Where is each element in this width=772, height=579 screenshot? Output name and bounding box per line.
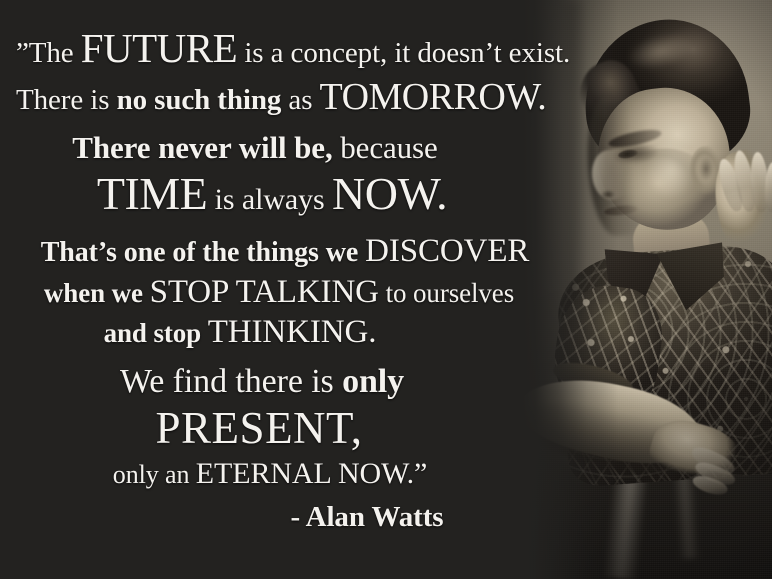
quote-run-regular: is always — [207, 183, 332, 216]
quote-line: only an ETERNAL NOW.” — [10, 459, 554, 489]
quote-line: TIME is always NOW. — [10, 171, 554, 217]
quote-run-regular: to ourselves — [379, 278, 514, 308]
quote-line: We find there is only — [10, 365, 554, 399]
quote-run-cap: FUTURE — [81, 25, 237, 71]
quote-line: and stop THINKING. — [10, 316, 554, 349]
quote-run-regular: ”The — [16, 37, 81, 69]
quote-run-bold: only — [342, 363, 404, 400]
quote-line: That’s one of the things we DISCOVER — [10, 235, 554, 268]
quote-run-regular: as — [281, 84, 319, 116]
quote-poster: ”The FUTURE is a concept, it doesn’t exi… — [0, 0, 772, 579]
quote-run-cap: THINKING. — [208, 314, 377, 350]
quote-run-regular: We find there is — [120, 363, 342, 400]
quote-line: when we STOP TALKING to ourselves — [10, 276, 554, 309]
quote-run-cap: ETERNAL NOW.” — [196, 457, 427, 490]
quote-run-cap: TOMORROW. — [320, 76, 547, 118]
quote-run-bold: no such thing — [117, 84, 282, 116]
quote-line: PRESENT, — [10, 406, 554, 451]
quote-line: There never will be, because — [10, 132, 554, 163]
quote-run-regular: There is — [16, 84, 117, 116]
quote-run-cap: NOW. — [332, 168, 447, 219]
quote-run-cap: PRESENT, — [156, 403, 363, 453]
quote-run-bold: and stop — [104, 318, 208, 348]
quote-run-regular: only an — [113, 460, 196, 489]
quote-run-bold: - Alan Watts — [291, 501, 444, 533]
quote-text-block: ”The FUTURE is a concept, it doesn’t exi… — [0, 0, 560, 579]
quote-run-regular: because — [333, 130, 438, 165]
quote-run-bold: There never will be, — [72, 130, 332, 165]
quote-run-bold: when we — [44, 278, 150, 308]
quote-line: There is no such thing as TOMORROW. — [10, 78, 554, 116]
quote-run-cap: STOP TALKING — [150, 274, 379, 310]
quote-run-regular: is a concept, it doesn’t exist. — [237, 37, 570, 69]
quote-line: ”The FUTURE is a concept, it doesn’t exi… — [10, 28, 554, 69]
quote-run-bold: That’s one of the things we — [41, 237, 365, 268]
quote-attribution: - Alan Watts — [10, 503, 554, 532]
quote-run-cap: DISCOVER — [365, 233, 529, 269]
quote-run-cap: TIME — [97, 168, 207, 219]
